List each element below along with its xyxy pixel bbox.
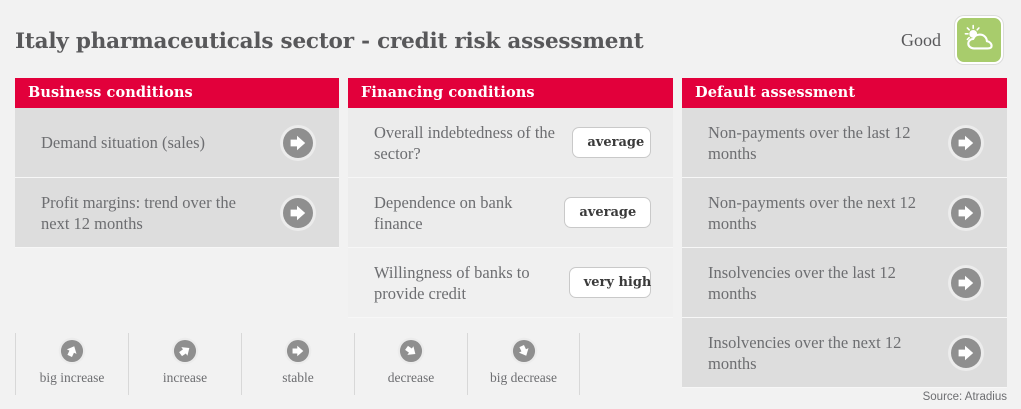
row-label: Non-payments over the last 12 months (708, 122, 923, 164)
row-label: Dependence on bank finance (374, 192, 564, 234)
table-row: Profit margins: trend over the next 12 m… (15, 178, 339, 248)
legend-item-stable: stable (241, 333, 354, 395)
legend-item-decrease: decrease (354, 333, 467, 395)
column-header-financing: Financing conditions (348, 78, 673, 108)
table-row: Non-payments over the last 12 months (682, 108, 1007, 178)
status-badge: very high (569, 267, 651, 298)
table-row: Insolvencies over the next 12 months (682, 318, 1007, 388)
row-label: Demand situation (sales) (41, 132, 205, 153)
legend-label: decrease (388, 370, 434, 386)
table-row: Dependence on bank finance average (348, 178, 673, 248)
row-label: Profit margins: trend over the next 12 m… (41, 192, 256, 234)
page-title: Italy pharmaceuticals sector - credit ri… (15, 29, 643, 54)
arrow-right-circle-icon (284, 337, 312, 365)
legend: big increase increase stable (15, 333, 580, 395)
rating-badge (955, 16, 1003, 64)
page-header: Italy pharmaceuticals sector - credit ri… (0, 0, 1021, 78)
arrow-up-right-circle-icon (171, 337, 199, 365)
arrow-right-circle-icon (279, 124, 317, 162)
row-label: Insolvencies over the last 12 months (708, 262, 923, 304)
arrow-down-right-steep-circle-icon (510, 337, 538, 365)
table-row: Willingness of banks to provide credit v… (348, 248, 673, 318)
status-badge: average (572, 127, 651, 158)
column-header-default: Default assessment (682, 78, 1007, 108)
status-badge: average (564, 197, 651, 228)
legend-label: stable (282, 370, 314, 386)
table-row: Demand situation (sales) (15, 108, 339, 178)
legend-label: big decrease (490, 370, 557, 386)
row-label: Non-payments over the next 12 months (708, 192, 923, 234)
column-financing-conditions: Financing conditions Overall indebtednes… (348, 78, 673, 318)
table-row: Overall indebtedness of the sector? aver… (348, 108, 673, 178)
row-label: Insolvencies over the next 12 months (708, 332, 923, 374)
table-row: Insolvencies over the last 12 months (682, 248, 1007, 318)
column-header-business: Business conditions (15, 78, 339, 108)
overall-rating: Good (901, 16, 1003, 64)
legend-item-increase: increase (128, 333, 241, 395)
column-default-assessment: Default assessment Non-payments over the… (682, 78, 1007, 388)
column-business-conditions: Business conditions Demand situation (sa… (15, 78, 339, 248)
arrow-right-circle-icon (947, 124, 985, 162)
legend-label: increase (163, 370, 207, 386)
table-row: Non-payments over the next 12 months (682, 178, 1007, 248)
arrow-right-circle-icon (947, 334, 985, 372)
row-label: Overall indebtedness of the sector? (374, 122, 572, 164)
arrow-down-right-circle-icon (397, 337, 425, 365)
legend-item-big-increase: big increase (15, 333, 128, 395)
legend-item-big-decrease: big decrease (467, 333, 580, 395)
arrow-right-circle-icon (279, 194, 317, 232)
row-label: Willingness of banks to provide credit (374, 262, 569, 304)
source-attribution: Source: Atradius (923, 391, 1007, 403)
arrow-right-circle-icon (947, 194, 985, 232)
arrow-right-circle-icon (947, 264, 985, 302)
sun-behind-cloud-icon (964, 24, 994, 57)
legend-label: big increase (40, 370, 105, 386)
rating-label: Good (901, 30, 941, 51)
arrow-up-right-steep-circle-icon (58, 337, 86, 365)
